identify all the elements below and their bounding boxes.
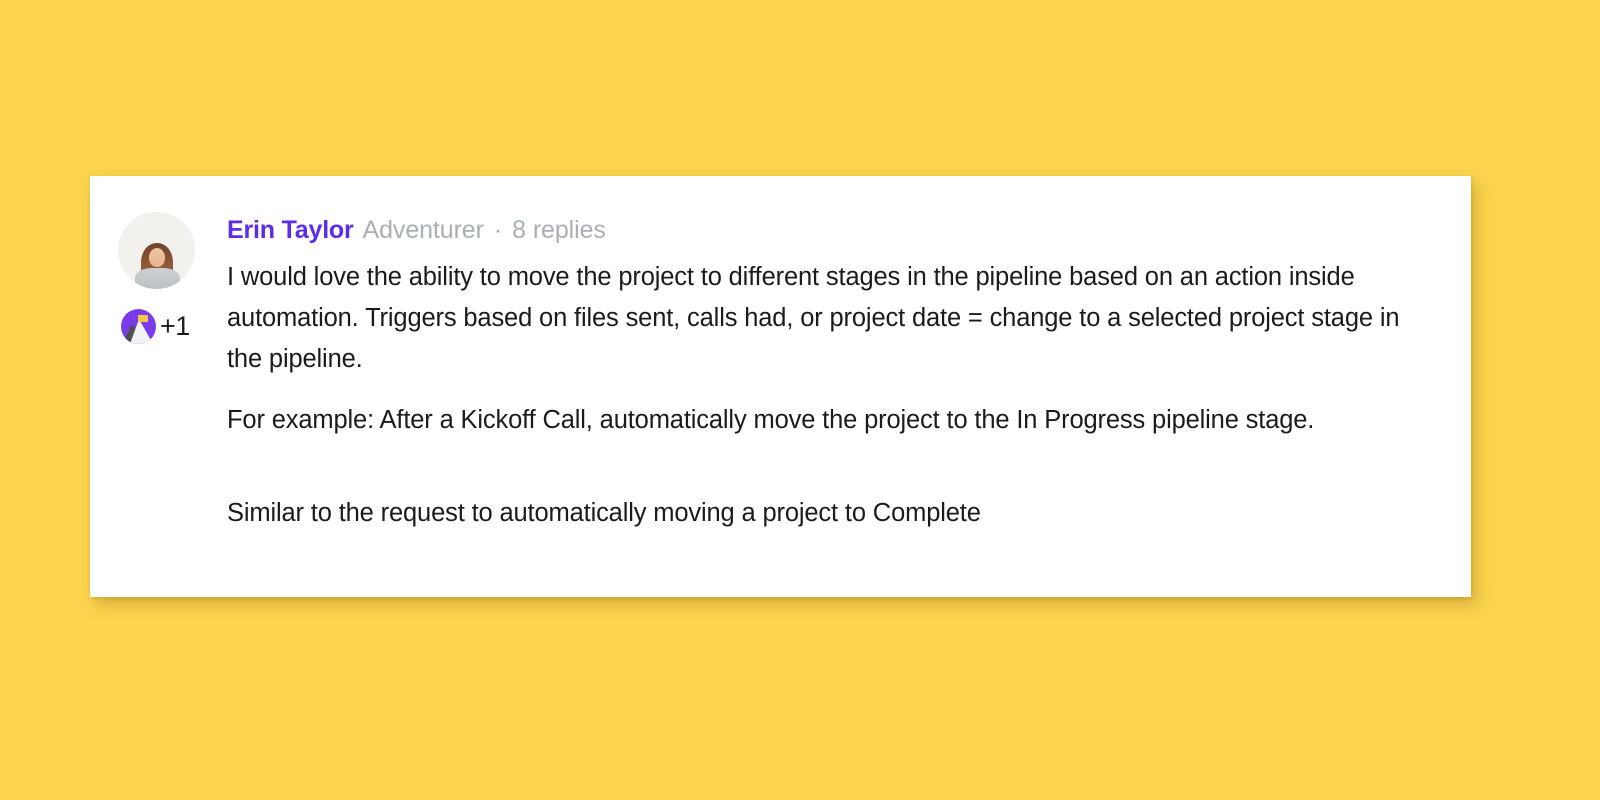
post-body-paragraph-2: For example: After a Kickoff Call, autom… bbox=[227, 400, 1427, 441]
author-name-link[interactable]: Erin Taylor bbox=[227, 216, 354, 245]
mountain-front-shape bbox=[130, 319, 153, 344]
reaction-count-label: +1 bbox=[160, 313, 190, 340]
post-card-inner: +1 Erin Taylor Adventurer · 8 replies I … bbox=[90, 176, 1471, 597]
post-content: Erin Taylor Adventurer · 8 replies I wou… bbox=[227, 216, 1427, 534]
post-body-paragraph-1: I would love the ability to move the pro… bbox=[227, 257, 1427, 380]
reply-count-label[interactable]: 8 replies bbox=[512, 216, 606, 245]
author-rank-label: Adventurer bbox=[363, 216, 484, 245]
post-body-paragraph-3: Similar to the request to automatically … bbox=[227, 493, 1427, 534]
meta-separator-dot: · bbox=[484, 216, 512, 245]
forum-post-card: +1 Erin Taylor Adventurer · 8 replies I … bbox=[90, 176, 1471, 597]
mountain-flag-icon[interactable] bbox=[121, 309, 156, 344]
avatar[interactable] bbox=[118, 212, 195, 289]
post-meta-line: Erin Taylor Adventurer · 8 replies bbox=[227, 216, 1427, 245]
avatar-photo bbox=[118, 212, 195, 289]
page-canvas: +1 Erin Taylor Adventurer · 8 replies I … bbox=[0, 0, 1600, 800]
post-gutter: +1 bbox=[118, 212, 218, 344]
avatar-body-shape bbox=[135, 268, 180, 289]
flag-icon bbox=[138, 315, 148, 322]
avatar-face-shape bbox=[149, 248, 165, 267]
reaction-row[interactable]: +1 bbox=[121, 309, 218, 344]
